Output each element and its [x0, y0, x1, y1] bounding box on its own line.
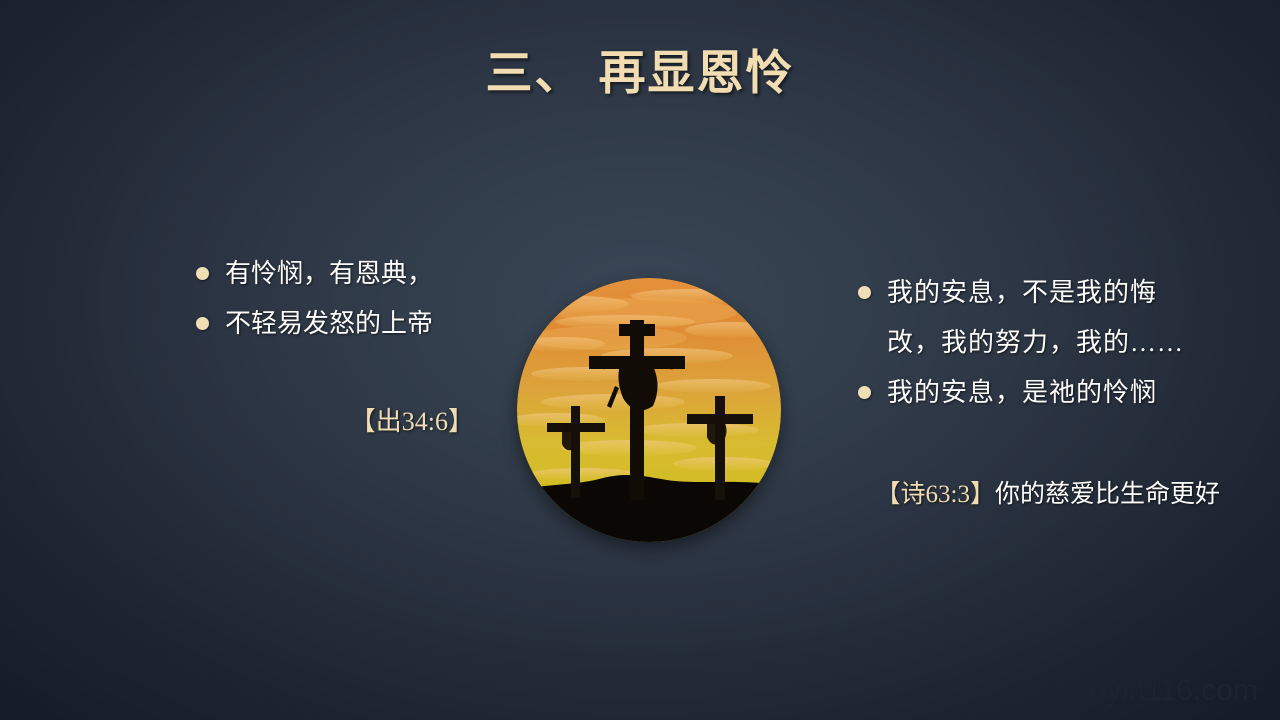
left-bullet-text-1: 有怜悯，有恩典， [225, 249, 496, 299]
right-text-block: 我的安息，不是我的悔 改，我的努力，我的…… 我的安息，是祂的怜悯 【诗63:3… [858, 268, 1188, 546]
three-crosses-illustration [517, 278, 781, 542]
left-citation-reference: 【出34:6】 [350, 407, 474, 436]
right-scripture-citation: 【诗63:3】你的慈爱比生命更好 [838, 444, 1188, 546]
bullet-dot-icon [196, 267, 209, 280]
left-bullet-text-2: 不轻易发怒的上帝 [225, 299, 496, 349]
right-bullet-text-3: 我的安息，是祂的怜悯 [887, 368, 1188, 418]
presentation-slide: 三、 再显恩怜 有怜悯，有恩典， 不轻易发怒的上帝 【出34:6】 [0, 0, 1280, 720]
list-item: 我的安息，是祂的怜悯 [858, 368, 1188, 418]
list-item-continuation: 改，我的努力，我的…… [858, 318, 1188, 368]
right-citation-text: 你的慈爱比生命更好 [995, 481, 1220, 508]
list-item: 不轻易发怒的上帝 [196, 299, 496, 349]
right-bullet-text-1: 我的安息，不是我的悔 [887, 268, 1188, 318]
slide-title: 三、 再显恩怜 [0, 34, 1280, 103]
left-scripture-citation: 【出34:6】 [196, 371, 496, 473]
list-item: 有怜悯，有恩典， [196, 249, 496, 299]
bullet-dot-icon [858, 286, 871, 299]
bullet-dot-icon [196, 317, 209, 330]
site-watermark: fuyin116.com [1082, 674, 1258, 708]
bullet-spacer [858, 336, 871, 349]
bullet-dot-icon [858, 386, 871, 399]
list-item: 我的安息，不是我的悔 [858, 268, 1188, 318]
crucifixion-image [517, 278, 781, 542]
left-text-block: 有怜悯，有恩典， 不轻易发怒的上帝 【出34:6】 [196, 249, 496, 473]
right-citation-reference: 【诗63:3】 [876, 481, 995, 508]
right-bullet-text-2: 改，我的努力，我的…… [887, 318, 1188, 368]
